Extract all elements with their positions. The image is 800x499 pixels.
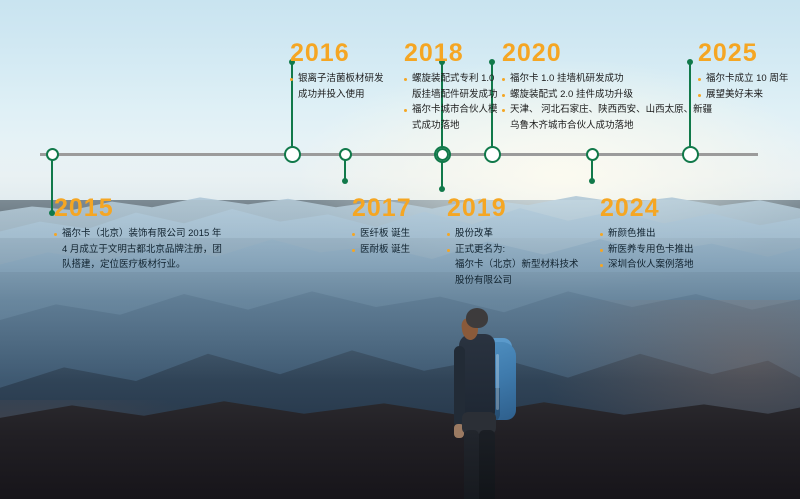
hiker-right-leg bbox=[479, 430, 495, 499]
timeline-bullet: 乌鲁木齐城市合伙人成功落地 bbox=[502, 119, 712, 134]
timeline-bullets-2016: 银离子洁菌板材研发成功并投入使用 bbox=[290, 72, 384, 102]
timeline-year-label-2017: 2017 bbox=[352, 196, 412, 221]
timeline-year-label-2025: 2025 bbox=[698, 41, 788, 66]
timeline-bullet: 天津、 河北石家庄、陕西西安、山西太原、新疆 bbox=[502, 103, 712, 118]
timeline-node-2019[interactable] bbox=[436, 148, 449, 161]
timeline-bullet: 福尔卡成立 10 周年 bbox=[698, 72, 788, 87]
hiker-left-leg bbox=[464, 430, 479, 499]
timeline-year-label-2018: 2018 bbox=[404, 41, 498, 66]
timeline-node-2025[interactable] bbox=[682, 146, 699, 163]
timeline-bullet: 正式更名为: bbox=[447, 243, 579, 258]
timeline-node-2016[interactable] bbox=[284, 146, 301, 163]
timeline-bullets-2018: 螺旋装配式专利 1.0版挂墙配件研发成功福尔卡城市合伙人模式成功落地 bbox=[404, 72, 498, 134]
timeline-entry-2018[interactable]: 2018螺旋装配式专利 1.0版挂墙配件研发成功福尔卡城市合伙人模式成功落地 bbox=[404, 41, 498, 135]
timeline-bullet: 医纤板 诞生 bbox=[352, 227, 412, 242]
timeline-bullet: 福尔卡（北京）新型材料技术 bbox=[447, 258, 579, 273]
timeline-bullet: 福尔卡（北京）装饰有限公司 2015 年 bbox=[54, 227, 222, 242]
timeline-year-label-2024: 2024 bbox=[600, 196, 694, 221]
timeline-bullet: 新颜色推出 bbox=[600, 227, 694, 242]
timeline-bullet: 4 月成立于文明古都北京品牌注册，团 bbox=[54, 243, 222, 258]
timeline-node-2015[interactable] bbox=[46, 148, 59, 161]
timeline-bullet: 医耐板 诞生 bbox=[352, 243, 412, 258]
timeline-infographic: 2015福尔卡（北京）装饰有限公司 2015 年4 月成立于文明古都北京品牌注册… bbox=[0, 0, 800, 499]
timeline-bullets-2015: 福尔卡（北京）装饰有限公司 2015 年4 月成立于文明古都北京品牌注册，团队搭… bbox=[54, 227, 222, 273]
timeline-bullet: 成功并投入使用 bbox=[290, 88, 384, 103]
timeline-bullet: 队搭建，定位医疗板材行业。 bbox=[54, 258, 222, 273]
timeline-bullet: 福尔卡 1.0 挂墙机研发成功 bbox=[502, 72, 712, 87]
timeline-year-label-2019: 2019 bbox=[447, 196, 579, 221]
timeline-bullet: 股份改革 bbox=[447, 227, 579, 242]
timeline-stem-cap-2017 bbox=[342, 178, 348, 184]
hiker-figure bbox=[446, 308, 536, 499]
timeline-node-2020[interactable] bbox=[484, 146, 501, 163]
timeline-entry-2016[interactable]: 2016银离子洁菌板材研发成功并投入使用 bbox=[290, 41, 384, 103]
timeline-entry-2020[interactable]: 2020福尔卡 1.0 挂墙机研发成功螺旋装配式 2.0 挂件成功升级天津、 河… bbox=[502, 41, 712, 135]
timeline-stem-2015 bbox=[51, 155, 53, 213]
timeline-axis bbox=[40, 153, 758, 156]
timeline-bullet: 版挂墙配件研发成功 bbox=[404, 88, 498, 103]
timeline-bullet: 展望美好未来 bbox=[698, 88, 788, 103]
timeline-bullet: 银离子洁菌板材研发 bbox=[290, 72, 384, 87]
timeline-bullets-2025: 福尔卡成立 10 周年展望美好未来 bbox=[698, 72, 788, 102]
timeline-entry-2017[interactable]: 2017医纤板 诞生医耐板 诞生 bbox=[352, 196, 412, 258]
timeline-year-label-2016: 2016 bbox=[290, 41, 384, 66]
timeline-node-2024[interactable] bbox=[586, 148, 599, 161]
timeline-entry-2025[interactable]: 2025福尔卡成立 10 周年展望美好未来 bbox=[698, 41, 788, 103]
timeline-bullets-2017: 医纤板 诞生医耐板 诞生 bbox=[352, 227, 412, 257]
timeline-year-label-2020: 2020 bbox=[502, 41, 712, 66]
timeline-bullet: 福尔卡城市合伙人模 bbox=[404, 103, 498, 118]
timeline-stem-cap-2024 bbox=[589, 178, 595, 184]
timeline-stem-cap-2019 bbox=[439, 186, 445, 192]
timeline-bullet: 股份有限公司 bbox=[447, 274, 579, 289]
hiker-head bbox=[466, 308, 488, 328]
timeline-year-label-2015: 2015 bbox=[54, 196, 222, 221]
timeline-bullet: 式成功落地 bbox=[404, 119, 498, 134]
timeline-bullet: 螺旋装配式 2.0 挂件成功升级 bbox=[502, 88, 712, 103]
timeline-bullets-2019: 股份改革正式更名为:福尔卡（北京）新型材料技术股份有限公司 bbox=[447, 227, 579, 289]
backpack-strap bbox=[496, 354, 499, 410]
timeline-bullet: 螺旋装配式专利 1.0 bbox=[404, 72, 498, 87]
timeline-bullets-2020: 福尔卡 1.0 挂墙机研发成功螺旋装配式 2.0 挂件成功升级天津、 河北石家庄… bbox=[502, 72, 712, 134]
timeline-bullet: 新医养专用色卡推出 bbox=[600, 243, 694, 258]
timeline-entry-2019[interactable]: 2019股份改革正式更名为:福尔卡（北京）新型材料技术股份有限公司 bbox=[447, 196, 579, 290]
timeline-bullet: 深圳合伙人案例落地 bbox=[600, 258, 694, 273]
timeline-entry-2015[interactable]: 2015福尔卡（北京）装饰有限公司 2015 年4 月成立于文明古都北京品牌注册… bbox=[54, 196, 222, 274]
timeline-node-2017[interactable] bbox=[339, 148, 352, 161]
timeline-entry-2024[interactable]: 2024新颜色推出新医养专用色卡推出深圳合伙人案例落地 bbox=[600, 196, 694, 274]
timeline-bullets-2024: 新颜色推出新医养专用色卡推出深圳合伙人案例落地 bbox=[600, 227, 694, 273]
